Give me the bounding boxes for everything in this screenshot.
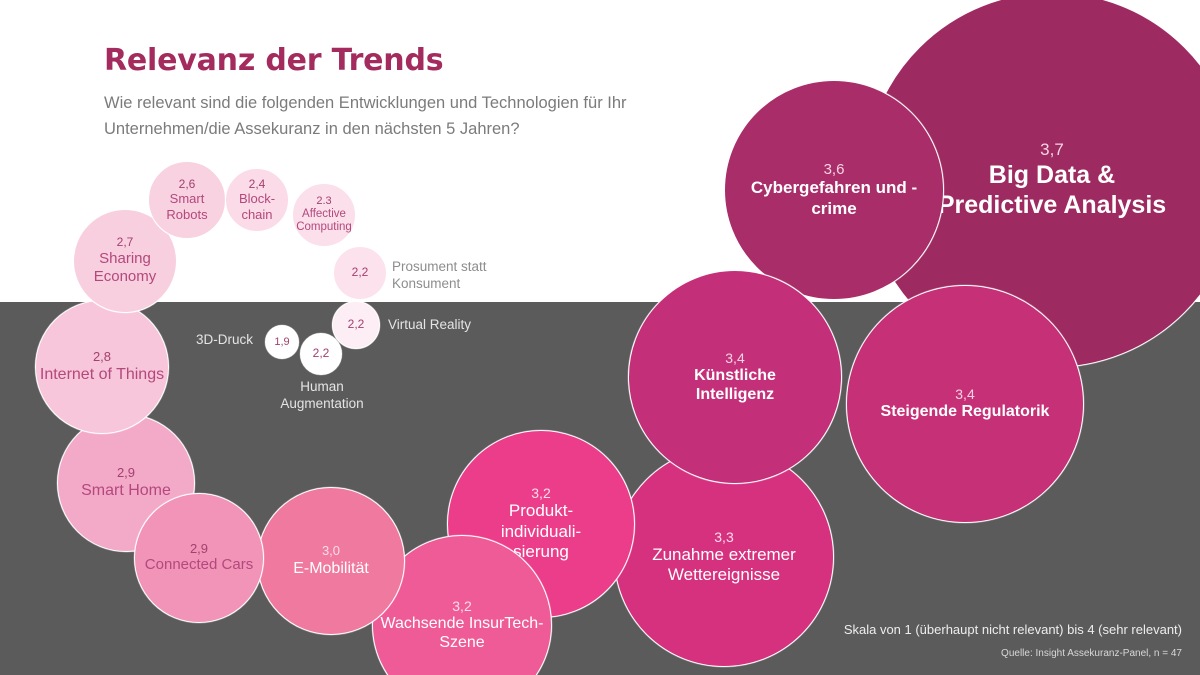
bubble-value: 2,9 [190,542,208,557]
bubble-cyber[interactable]: 3,6Cybergefahren und -crime [724,80,944,300]
bubble-value: 3,3 [714,529,733,545]
bubble-value: 2,2 [352,266,369,280]
bubble-value: 2,2 [313,347,330,361]
bubble-3d-druck[interactable]: 1,9 [265,325,299,359]
bubble-value: 3,7 [1040,140,1064,160]
bubble-label: E-Mobilität [293,559,369,578]
bubble-prosument[interactable]: 2,2 [333,246,387,300]
bubble-virtual-reality[interactable]: 2,2 [332,301,380,349]
bubble-ki[interactable]: 3,4Künstliche Intelligenz [628,270,842,484]
3d-druck-label: 3D-Druck [196,331,266,348]
page-subtitle: Wie relevant sind die folgenden Entwickl… [104,91,724,142]
bubble-value: 2,7 [117,236,134,250]
bubble-label: Smart Home [81,481,171,500]
bubble-value: 2.3 [316,195,331,208]
bubble-value: 3,2 [452,598,471,614]
bubble-value: 3,6 [824,161,845,178]
bubble-value: 2,8 [93,350,111,365]
bubble-label: Künstliche Intelligenz [655,366,815,404]
bubble-label: Steigende Regulatorik [881,402,1050,421]
bubble-value: 1,9 [274,336,289,349]
prosument-label: Prosument statt Konsument [392,258,512,293]
human-augmentation-label: Human Augmentation [263,378,381,413]
bubble-value: 3,4 [725,350,744,366]
bubble-label: Block-chain [239,191,275,222]
bubble-blockchain[interactable]: 2,4Block-chain [225,168,289,232]
slide-canvas: Relevanz der Trends Wie relevant sind di… [0,0,1200,675]
bubble-label: Connected Cars [145,556,253,574]
bubble-label: Wachsende InsurTech-Szene [377,614,547,652]
bubble-iot[interactable]: 2,8Internet of Things [35,300,169,434]
bubble-value: 3,0 [322,544,340,559]
bubble-smart-robots[interactable]: 2,6Smart Robots [148,161,226,239]
bubble-label: Cybergefahren und -crime [747,178,922,219]
bubble-value: 3,4 [955,386,974,402]
bubble-label: Big Data & Predictive Analysis [937,160,1167,220]
bubble-affective[interactable]: 2.3Affective Computing [292,183,356,247]
bubble-regulatorik[interactable]: 3,4Steigende Regulatorik [846,285,1084,523]
page-title: Relevanz der Trends [104,44,724,77]
header: Relevanz der Trends Wie relevant sind di… [104,44,724,142]
bubble-emobil[interactable]: 3,0E-Mobilität [257,487,405,635]
scale-note: Skala von 1 (überhaupt nicht relevant) b… [844,622,1182,637]
bubble-value: 3,2 [531,485,550,501]
bubble-value: 2,9 [117,466,135,481]
bubble-connected-cars[interactable]: 2,9Connected Cars [134,493,264,623]
bubble-value: 2,2 [348,318,365,332]
bubble-label: Sharing Economy [74,250,176,286]
virtual-reality-label: Virtual Reality [388,316,498,333]
bubble-human-augmentation[interactable]: 2,2 [300,333,342,375]
bubble-label: Zunahme extremer Wettereignisse [629,545,819,586]
bubble-value: 2,4 [249,178,266,192]
bubble-label: Affective Computing [293,208,355,236]
bubble-label: Smart Robots [149,191,225,222]
bubble-label: Internet of Things [40,365,164,384]
source-note: Quelle: Insight Assekuranz-Panel, n = 47 [1001,648,1182,659]
bubble-value: 2,6 [179,178,196,192]
